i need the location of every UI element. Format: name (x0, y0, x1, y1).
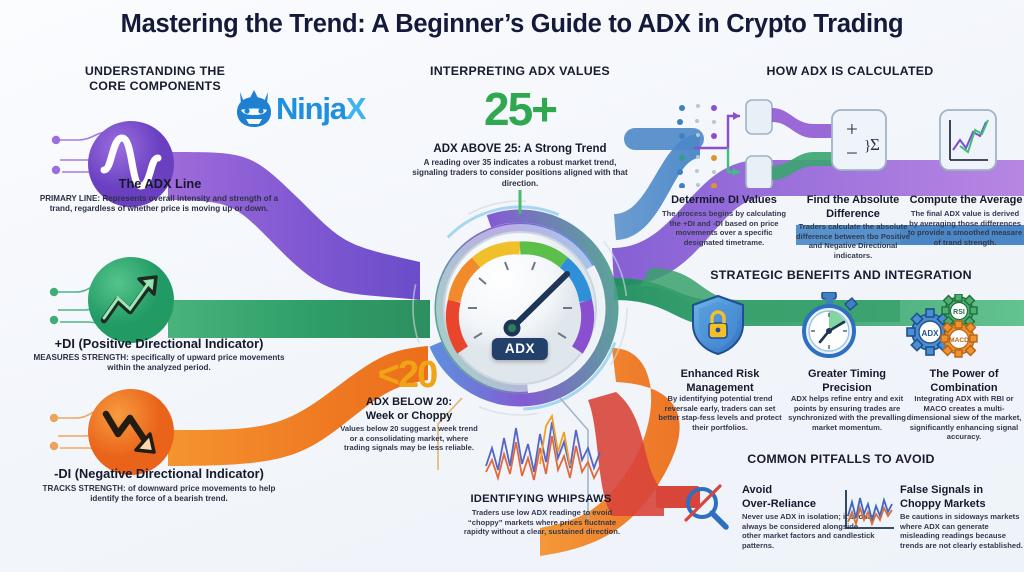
svg-text:MACD: MACD (949, 337, 969, 344)
pitfall-title-1: False Signals in Choppy Markets (900, 484, 1024, 511)
benefit-title-2: The Power of Combination (906, 368, 1022, 395)
no-magnifier-icon (680, 482, 732, 534)
core-component-body-0: PRIMARY LINE: Represents overall intensi… (30, 194, 288, 215)
section-heading-calculated: HOW ADX IS CALCULATED (700, 64, 1000, 79)
core-component-title-2: -DI (Negative Directional Indicator) (26, 466, 292, 481)
svg-text:−: − (846, 141, 858, 165)
adx-weak-body: Values below 20 suggest a week trend or … (340, 424, 478, 453)
calc-step-title-1: Find the Absolute Difference (794, 194, 912, 221)
brand-name: NinjaX (276, 90, 365, 128)
pitfall-body-1: Be cautions in sidoways markets where AD… (900, 512, 1024, 550)
benefit-title-0: Enhanced Risk Management (660, 368, 780, 395)
calculation-diagram: + − } Σ (672, 96, 1024, 188)
choppy-chart-icon (840, 486, 896, 534)
svg-text:ADX: ADX (922, 329, 940, 338)
section-heading-pitfalls: COMMON PITFALLS TO AVOID (666, 452, 1016, 467)
gears-icon: ADX RSI (906, 294, 980, 360)
core-component-title-0: The ADX Line (36, 176, 284, 191)
whipsaws-title: IDENTIFYING WHIPSAWS (452, 492, 630, 507)
page-title: Mastering the Trend: A Beginner’s Guide … (0, 10, 1024, 39)
stopwatch-icon (798, 292, 860, 358)
adx-gauge: ADX (424, 212, 616, 404)
section-heading-interpret: INTERPRETING ADX VALUES (400, 64, 640, 79)
ninja-helmet-icon (232, 88, 276, 130)
infographic-canvas: Mastering the Trend: A Beginner’s Guide … (0, 0, 1024, 572)
svg-text:Σ: Σ (870, 135, 880, 154)
gauge-label: ADX (492, 338, 548, 360)
core-component-body-1: MEASURES STRENGTH: specifically of upwar… (30, 353, 288, 374)
benefit-body-0: By identifying potential trend reversale… (658, 394, 782, 432)
benefit-body-2: Integrating ADX with RBI or MACO creates… (904, 394, 1024, 442)
section-heading-benefits: STRATEGIC BENEFITS AND INTEGRATION (666, 268, 1016, 283)
brand-logo: NinjaX (232, 88, 412, 132)
adx-strong-value: 25+ (400, 86, 640, 132)
section-heading-core: UNDERSTANDING THE CORE COMPONENTS (40, 64, 270, 94)
calc-step-title-2: Compute the Average (908, 194, 1024, 208)
svg-text:RSI: RSI (953, 309, 965, 316)
svg-text:+: + (846, 117, 858, 141)
brand-name-accent: X (346, 91, 365, 126)
shield-lock-icon (688, 294, 748, 356)
brand-name-main: Ninja (276, 91, 346, 126)
calc-step-title-0: Determine DI Values (660, 194, 788, 208)
calc-step-body-2: The final ADX value is derived by averag… (906, 209, 1024, 247)
data-nodes-icon (677, 104, 717, 188)
core-component-body-2: TRACKS STRENGTH: of downward price movem… (34, 484, 284, 505)
benefit-body-1: ADX helps refine entry and exit points b… (786, 394, 908, 432)
whipsaws-body: Traders use low ADX readinge to evoid “c… (456, 508, 628, 537)
adx-strong-title: ADX ABOVE 25: A Strong Trend (400, 142, 640, 157)
calc-step-body-0: The process begins by calculating the +D… (658, 209, 790, 247)
benefit-title-1: Greater Timing Precision (788, 368, 906, 395)
core-component-title-1: +DI (Positive Directional Indicator) (30, 336, 288, 351)
calc-step-body-1: Traders calculate the absolute differenc… (790, 222, 916, 260)
adx-strong-body: A reading over 35 indicates a robust mar… (410, 158, 630, 189)
